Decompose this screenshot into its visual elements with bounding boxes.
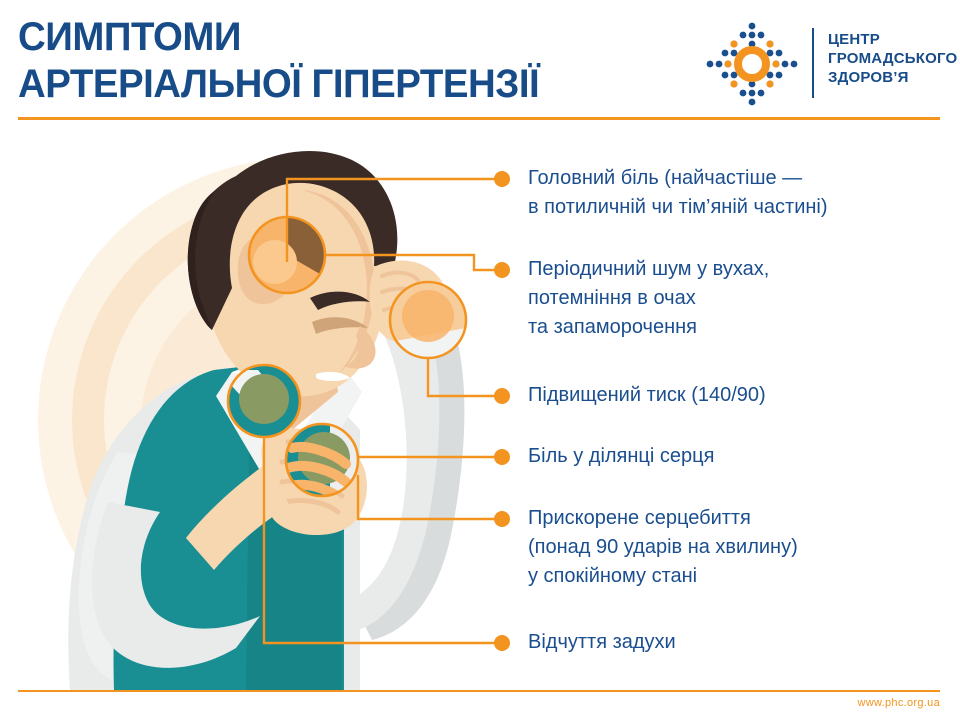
- logo-divider: [812, 28, 814, 98]
- logo-text-line-2: ГРОМАДСЬКОГО: [828, 49, 952, 68]
- footer-divider-rule: [18, 690, 940, 692]
- callout-headache-text: Головний біль (найчастіше — в потиличній…: [528, 164, 828, 222]
- title-line-1: СИМПТОМИ: [18, 14, 652, 61]
- logo-text-line-3: ЗДОРОВ’Я: [828, 68, 952, 87]
- callout-ear-noise-text: Періодичний шум у вухах, потемніння в оч…: [528, 255, 769, 342]
- callout-fast-heartbeat-text: Прискорене серцебиття (понад 90 ударів н…: [528, 504, 798, 591]
- title-line-2: АРТЕРІАЛЬНОЇ ГІПЕРТЕНЗІЇ: [18, 61, 652, 108]
- logo-text-line-1: ЦЕНТР: [828, 30, 952, 49]
- organization-logo: ЦЕНТР ГРОМАДСЬКОГО ЗДОРОВ’Я: [700, 14, 950, 110]
- logo-dots-icon: [704, 20, 800, 108]
- infographic-page: СИМПТОМИ АРТЕРІАЛЬНОЇ ГІПЕРТЕНЗІЇ: [0, 0, 960, 721]
- footer-website-url[interactable]: www.phc.org.ua: [858, 697, 940, 709]
- page-title: СИМПТОМИ АРТЕРІАЛЬНОЇ ГІПЕРТЕНЗІЇ: [18, 14, 678, 108]
- callout-text-list: Головний біль (найчастіше — в потиличній…: [0, 130, 960, 690]
- callout-breathlessness-text: Відчуття задухи: [528, 628, 676, 657]
- header-divider-rule: [18, 117, 940, 120]
- callout-heart-pain-text: Біль у ділянці серця: [528, 442, 714, 471]
- callout-high-pressure-text: Підвищений тиск (140/90): [528, 381, 766, 410]
- logo-wordmark: ЦЕНТР ГРОМАДСЬКОГО ЗДОРОВ’Я: [828, 30, 952, 87]
